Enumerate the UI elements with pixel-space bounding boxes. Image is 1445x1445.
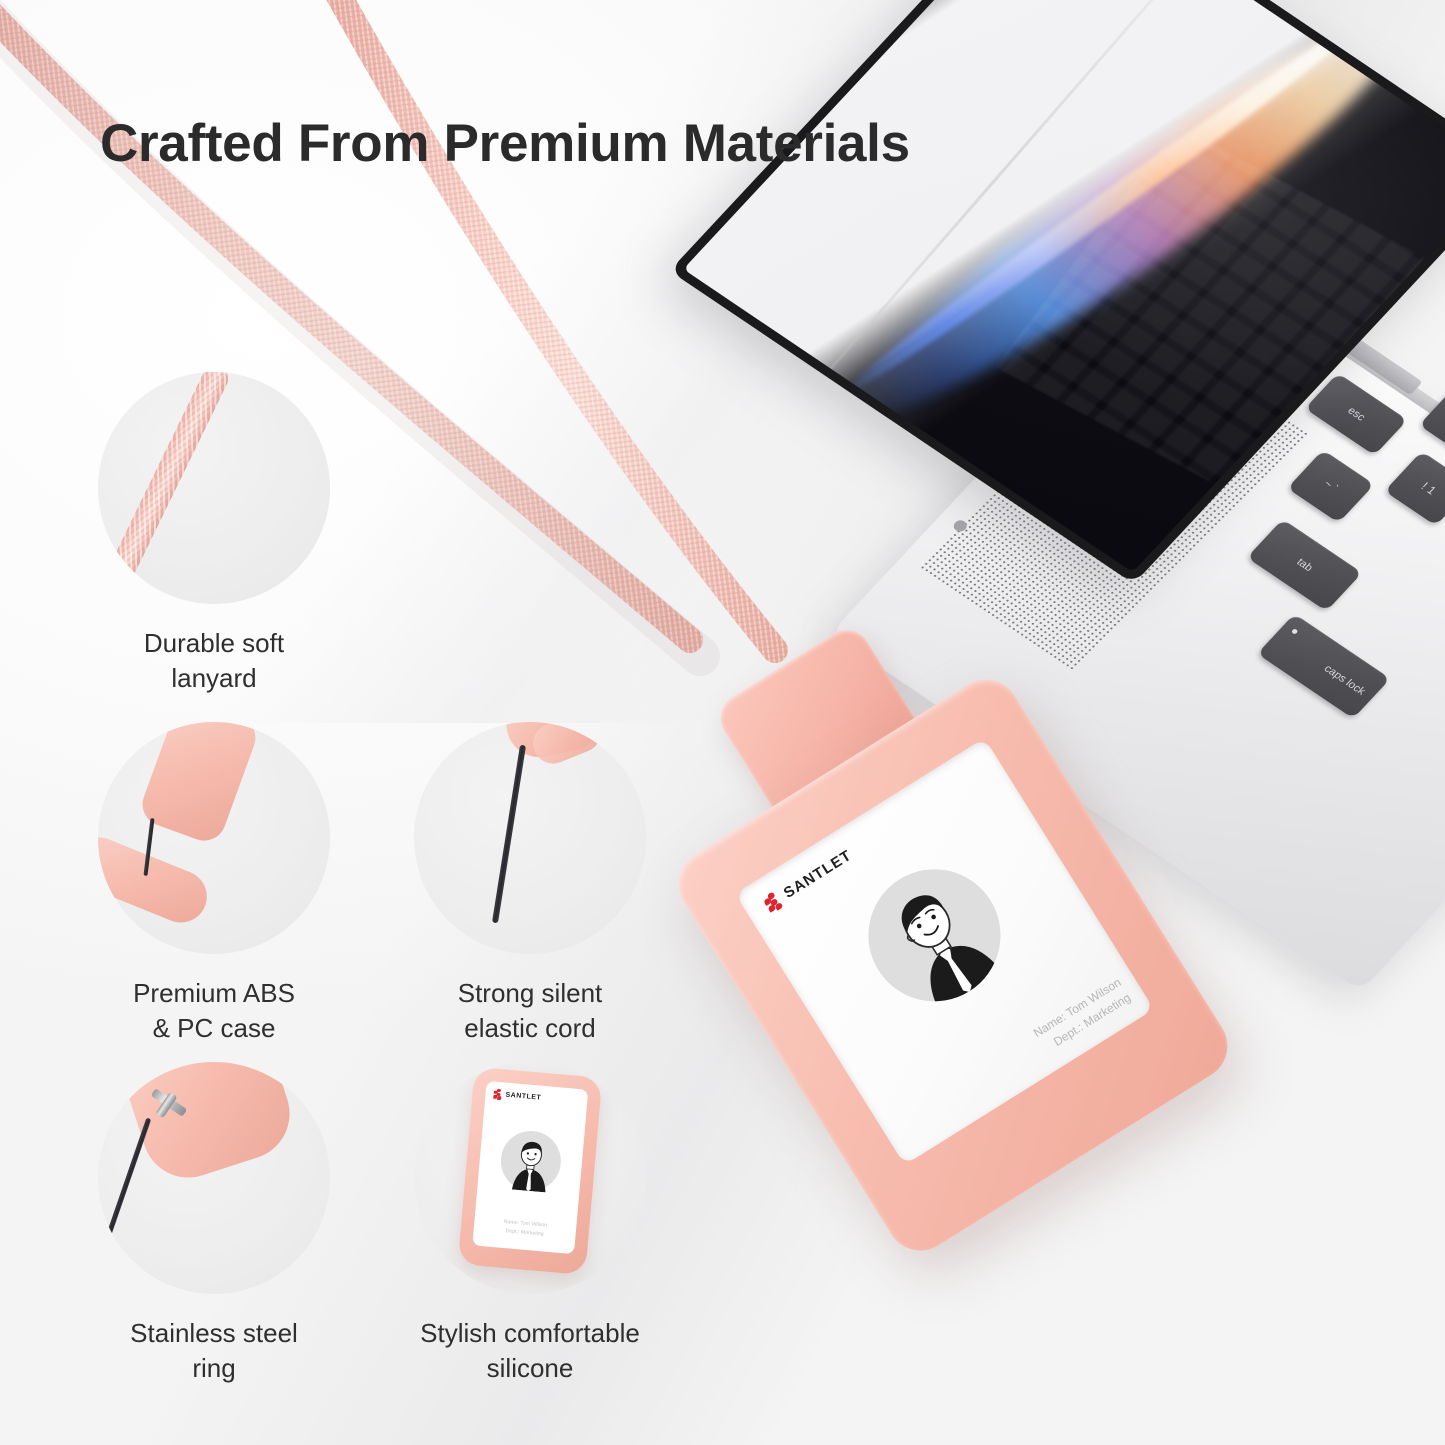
abs-case-top bbox=[136, 722, 261, 847]
cord-segment bbox=[98, 1118, 151, 1273]
brand-name-mini: SANTLET bbox=[505, 1091, 541, 1101]
feature-lanyard: Durable soft lanyard bbox=[98, 372, 330, 695]
card-details: Name: Tom Wilson Dept.: Marketing bbox=[1030, 973, 1135, 1058]
badge-holder: SANTLET bbox=[728, 655, 1248, 1215]
feature-steel-ring: Stainless steel ring bbox=[98, 1062, 330, 1385]
abs-case-bottom bbox=[98, 830, 215, 931]
feature-lanyard-caption: Durable soft lanyard bbox=[98, 626, 330, 695]
braided-cord-detail bbox=[98, 372, 232, 604]
page-title: Crafted From Premium Materials bbox=[100, 113, 1100, 174]
id-card: SANTLET bbox=[735, 738, 1154, 1165]
feature-elastic-cord: Strong silent elastic cord bbox=[414, 722, 646, 1045]
feature-elastic-cord-caption: Strong silent elastic cord bbox=[414, 976, 646, 1045]
brand-logo: SANTLET bbox=[762, 846, 856, 915]
cap-side bbox=[527, 722, 607, 770]
santlet-mark-icon bbox=[762, 889, 786, 914]
feature-abs-pc-image bbox=[98, 722, 330, 954]
feature-silicone-caption: Stylish comfortable silicone bbox=[414, 1316, 646, 1385]
feature-abs-pc-caption: Premium ABS & PC case bbox=[98, 976, 330, 1045]
feature-steel-ring-caption: Stainless steel ring bbox=[98, 1316, 330, 1385]
brand-name: SANTLET bbox=[781, 847, 855, 902]
feature-steel-ring-image bbox=[98, 1062, 330, 1294]
product-marketing-image: Crafted From Premium Materials esc bbox=[0, 0, 1445, 1445]
avatar bbox=[843, 844, 1025, 1026]
case-body bbox=[112, 1062, 301, 1190]
feature-silicone: SANTLET Name: bbox=[414, 1062, 646, 1385]
silicone-case-mini: SANTLET Name: bbox=[458, 1067, 603, 1275]
feature-abs-pc: Premium ABS & PC case bbox=[98, 722, 330, 1045]
feature-silicone-image: SANTLET Name: bbox=[414, 1062, 646, 1294]
avatar-illustration-icon bbox=[843, 844, 1025, 1026]
elastic-cord-detail bbox=[492, 745, 526, 924]
feature-lanyard-image bbox=[98, 372, 330, 604]
avatar-illustration-icon bbox=[498, 1128, 563, 1193]
feature-elastic-cord-image bbox=[414, 722, 646, 954]
